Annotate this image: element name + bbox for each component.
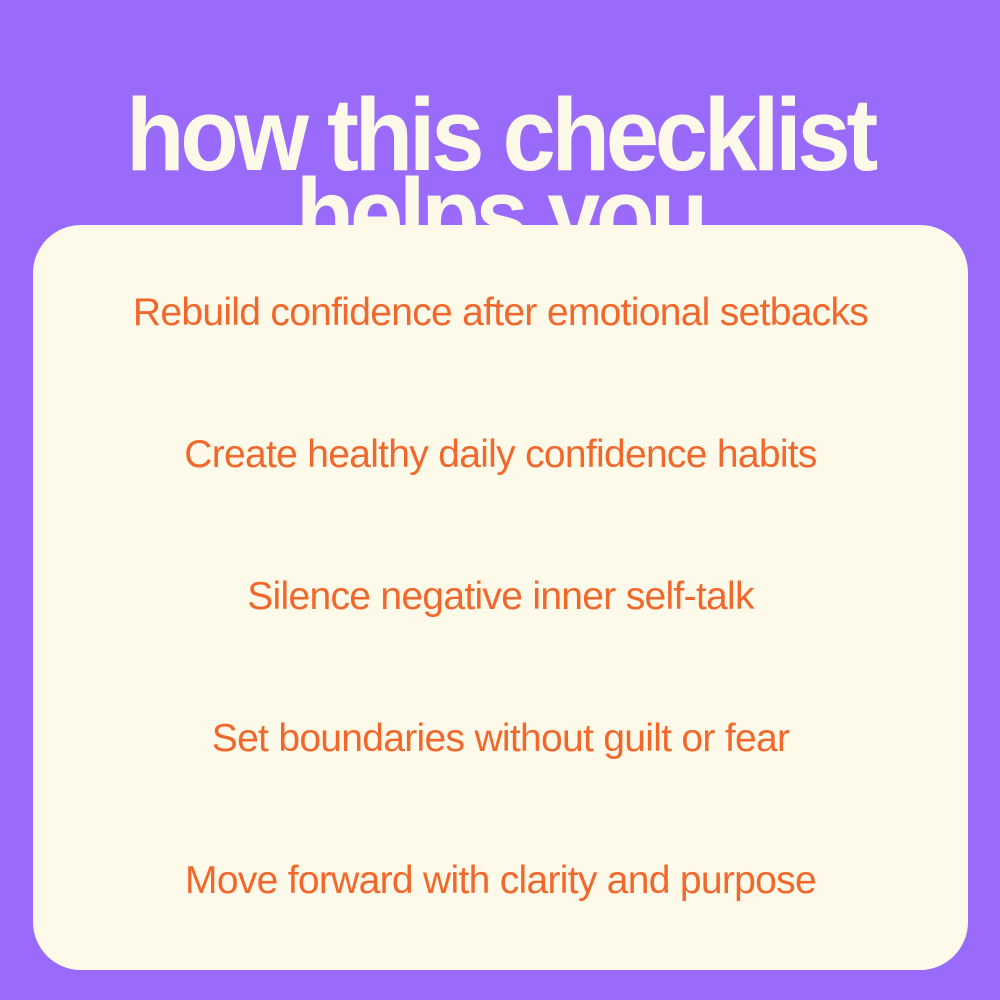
list-item: Create healthy daily confidence habits <box>33 385 968 527</box>
list-item-label: Create healthy daily confidence habits <box>184 434 816 477</box>
checklist-card: Rebuild confidence after emotional setba… <box>33 225 968 970</box>
checklist-poster: how this checklist helps you Rebuild con… <box>0 0 1000 1000</box>
list-item: Rebuild confidence after emotional setba… <box>33 243 968 385</box>
list-item-label: Move forward with clarity and purpose <box>185 860 816 903</box>
list-item-label: Rebuild confidence after emotional setba… <box>133 292 868 335</box>
list-item: Move forward with clarity and purpose <box>33 811 968 953</box>
list-item: Silence negative inner self-talk <box>33 527 968 669</box>
list-item: Set boundaries without guilt or fear <box>33 669 968 811</box>
checklist-list: Rebuild confidence after emotional setba… <box>33 225 968 970</box>
list-item-label: Set boundaries without guilt or fear <box>212 718 790 761</box>
list-item-label: Silence negative inner self-talk <box>247 576 754 619</box>
